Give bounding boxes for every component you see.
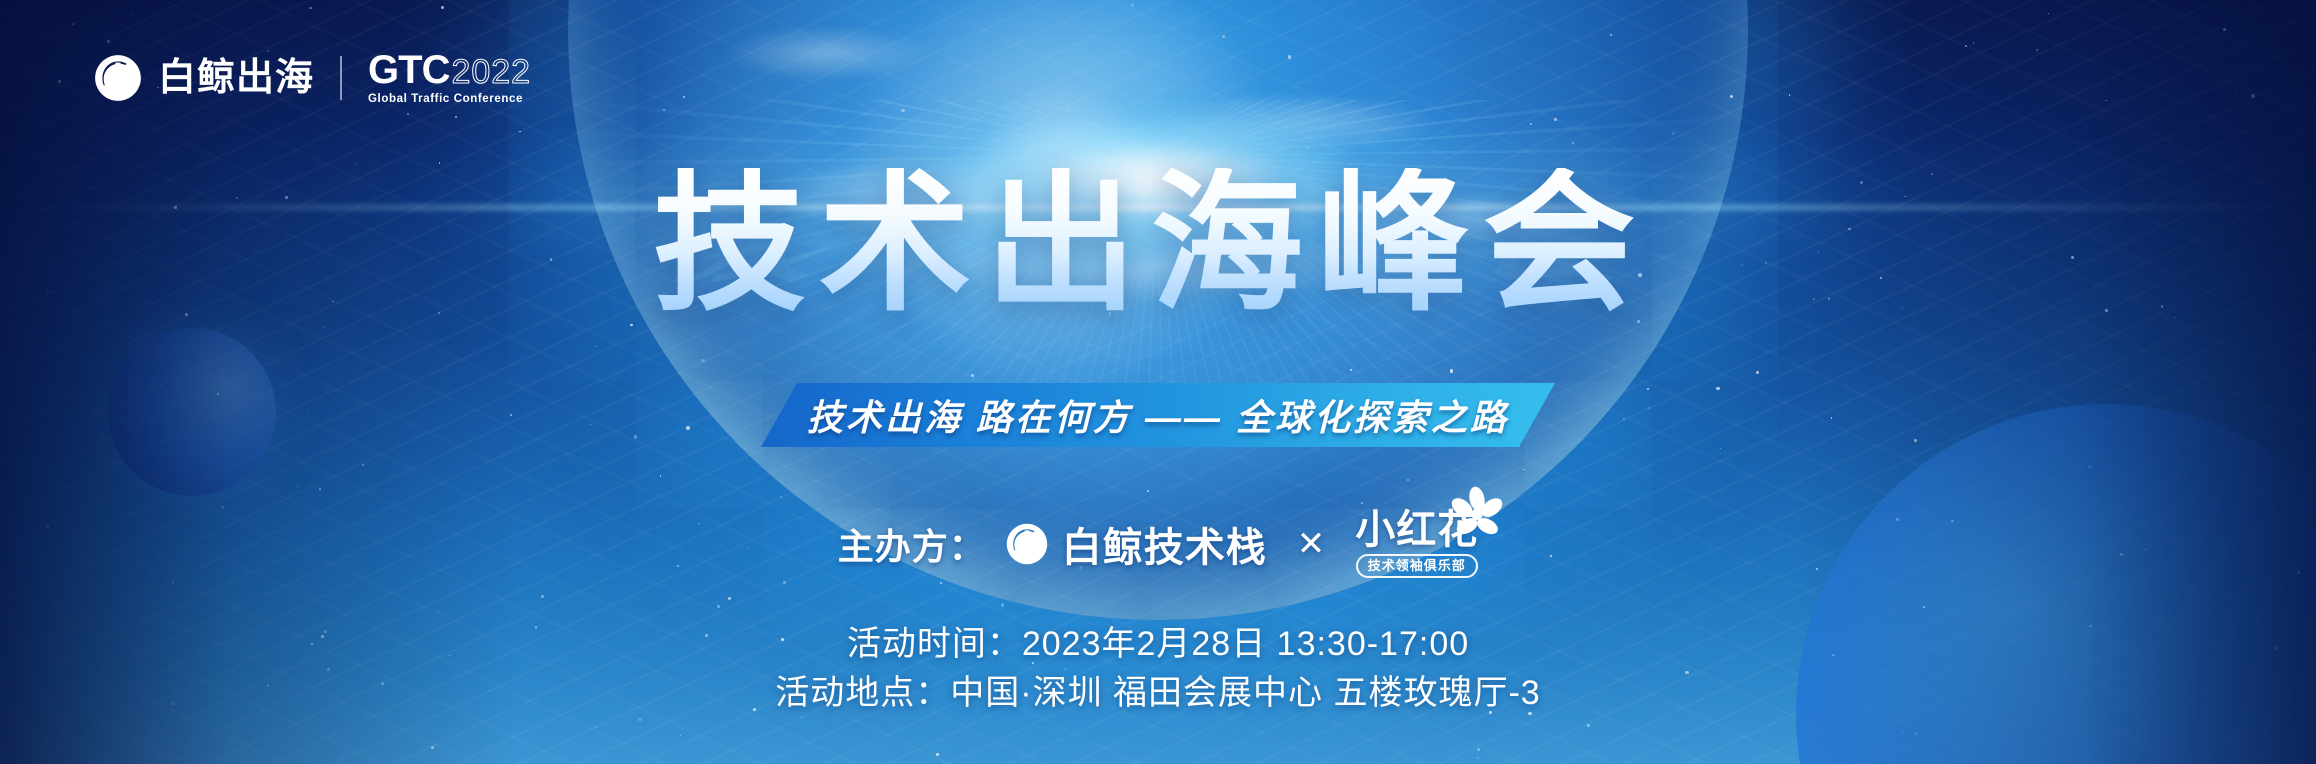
whale-g-logo-icon bbox=[1004, 521, 1050, 567]
event-time: 活动时间：2023年2月28日 13:30-17:00 bbox=[0, 620, 2316, 669]
organizer-label: 主办方： bbox=[838, 518, 986, 570]
hero-subtitle: 技术出海 路在何方 —— 全球化探索之路 bbox=[807, 389, 1509, 441]
gtc-logo-block: GTC 2022 Global Traffic Conference bbox=[368, 50, 531, 106]
logo-divider bbox=[340, 56, 342, 100]
hero-title-wrap: 技术出海峰会 bbox=[0, 168, 2316, 320]
ribbon-accent-left bbox=[715, 383, 773, 447]
gtc-acronym: GTC bbox=[368, 50, 449, 90]
organizer-separator-icon: ✕ bbox=[1297, 524, 1326, 564]
page-title: 技术出海峰会 bbox=[653, 168, 1663, 320]
event-promo-banner: 技术出海峰会 白鲸出海 GTC 2022 Global Traffic Conf… bbox=[0, 0, 2316, 764]
baijing-brand-lockup: 白鲸出海 bbox=[92, 52, 314, 104]
baijing-brand-name: 白鲸出海 bbox=[158, 59, 314, 97]
ribbon-accent-right bbox=[1543, 383, 1601, 447]
gtc-subtitle: Global Traffic Conference bbox=[368, 94, 531, 106]
xiaohonghua-name-row: 小红花 bbox=[1355, 510, 1478, 550]
header-logo-lockup: 白鲸出海 GTC 2022 Global Traffic Conference bbox=[92, 50, 531, 106]
gtc-title-row: GTC 2022 bbox=[368, 50, 531, 90]
gtc-year: 2022 bbox=[451, 55, 531, 89]
organizer-secondary: 小红花 技术领袖俱乐部 bbox=[1355, 510, 1478, 578]
hero-ribbon-wrap: 技术出海 路在何方 —— 全球化探索之路 bbox=[0, 383, 2316, 447]
event-location: 活动地点：中国·深圳 福田会展中心 五楼玫瑰厅-3 bbox=[0, 669, 2316, 718]
flower-icon bbox=[1446, 484, 1508, 546]
hero-ribbon: 技术出海 路在何方 —— 全球化探索之路 bbox=[761, 383, 1555, 447]
organizer-row: 主办方： 白鲸技术栈 ✕ 小红花 bbox=[0, 510, 2316, 578]
organizer-primary: 白鲸技术栈 bbox=[1004, 515, 1267, 573]
organizer-primary-name: 白鲸技术栈 bbox=[1062, 515, 1267, 573]
organizer-secondary-tagline: 技术领袖俱乐部 bbox=[1356, 554, 1478, 578]
whale-g-logo-icon bbox=[92, 52, 144, 104]
event-details: 活动时间：2023年2月28日 13:30-17:00 活动地点：中国·深圳 福… bbox=[0, 620, 2316, 719]
